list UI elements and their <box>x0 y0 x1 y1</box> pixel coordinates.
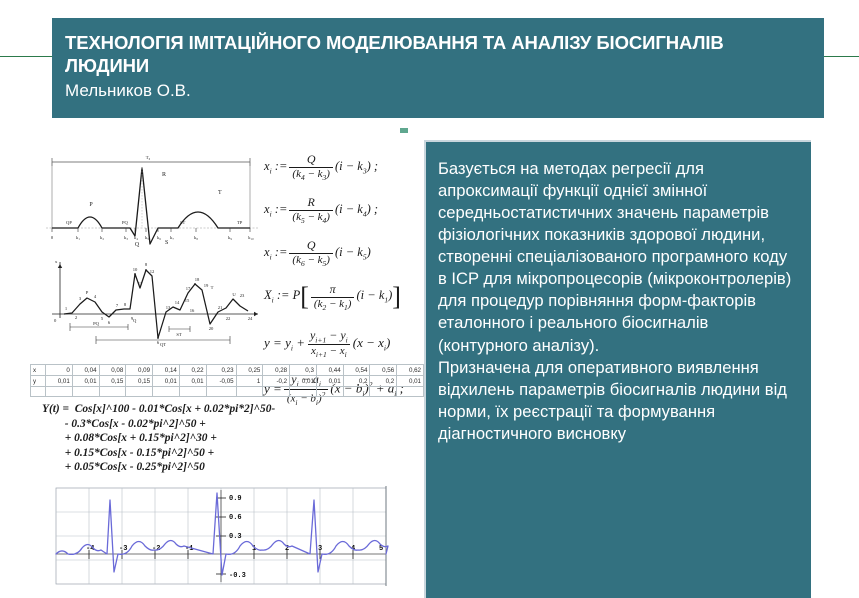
xtick-3: 3 <box>318 545 322 553</box>
cell: 0,15 <box>99 376 126 387</box>
cell <box>72 387 99 397</box>
cell: 0,15 <box>126 376 153 387</box>
svg-text:TP: TP <box>237 220 243 225</box>
cell: 0,56 <box>370 365 397 376</box>
svg-text:16: 16 <box>190 308 195 313</box>
sampled-ecg-chart: x 0 13 P4 25 67 89 108 1211 613 1415 161… <box>40 252 268 360</box>
svg-text:13: 13 <box>166 305 171 310</box>
cell <box>206 387 236 397</box>
cell: 0,44 <box>316 365 343 376</box>
row-label-y: y <box>31 376 46 387</box>
idealised-ecg-chart: T₀ P R Q S T QP PQ ST TP <box>38 148 266 256</box>
svg-text:8: 8 <box>124 302 127 307</box>
svg-text:T: T <box>218 190 222 196</box>
svg-text:x: x <box>55 259 58 264</box>
svg-text:S: S <box>165 240 168 246</box>
svg-text:19: 19 <box>204 283 209 288</box>
cell <box>263 387 290 397</box>
svg-text:k₈: k₈ <box>194 235 198 240</box>
svg-text:3: 3 <box>79 296 82 301</box>
svg-text:QT: QT <box>160 342 166 347</box>
cell: 0,25 <box>236 365 263 376</box>
svg-text:R: R <box>162 172 166 178</box>
svg-text:1: 1 <box>65 306 68 311</box>
description-paragraph-1: Базується на методах регресії для апрокс… <box>438 158 797 357</box>
cell: 0,14 <box>153 365 180 376</box>
cell: 0,01 <box>397 376 424 387</box>
svg-text:ST: ST <box>176 332 182 337</box>
equation-4: Xi := P [ π(k2 − k1) (i − k1) ] <box>264 282 434 312</box>
svg-text:0: 0 <box>51 235 54 240</box>
cell: 0,01 <box>72 376 99 387</box>
simulated-ecg-chart: 0.9 0.6 0.3 -0.3 -4 -3 -2 -1 1 2 <box>38 478 428 594</box>
decorative-mark <box>400 128 408 133</box>
table-row-x: x 0 0,04 0,08 0,09 0,14 0,22 0,23 0,25 0… <box>31 365 424 376</box>
svg-text:18: 18 <box>195 277 200 282</box>
svg-text:11: 11 <box>138 281 143 286</box>
cell: 0,28 <box>263 365 290 376</box>
page-title: ТЕХНОЛОГІЯ ІМІТАЦІЙНОГО МОДЕЛЮВАННЯ ТА А… <box>65 32 806 77</box>
svg-text:k₂: k₂ <box>100 235 104 240</box>
svg-text:k₁₀: k₁₀ <box>248 235 254 240</box>
svg-text:k₇: k₇ <box>170 235 174 240</box>
svg-text:4: 4 <box>94 294 97 299</box>
cell <box>236 387 263 397</box>
svg-text:24: 24 <box>248 316 253 321</box>
cell: 0,01 <box>290 376 317 387</box>
svg-text:PQ: PQ <box>93 321 100 326</box>
equation-5: y = yi + yi+1 − yixi+1 − xi (x − xi) <box>264 328 434 360</box>
equation-3: xi := Q(k6 − k5) (i − k5) <box>264 238 434 268</box>
table-row-blank <box>31 387 424 397</box>
table-row-y: y 0,01 0,01 0,15 0,15 0,01 0,01 -0,05 1 … <box>31 376 424 387</box>
y-formula-line-1: Y(t) = Cos[x]^100 - 0.01*Cos[x + 0.02*pi… <box>42 403 275 415</box>
svg-text:20: 20 <box>209 326 214 331</box>
y-formula-line-3: + 0.08*Cos[x + 0.15*pi^2]^30 + <box>42 432 217 444</box>
slide-canvas: ТЕХНОЛОГІЯ ІМІТАЦІЙНОГО МОДЕЛЮВАННЯ ТА А… <box>0 0 859 598</box>
equation-1: xi := Q(k4 − k3) (i − k3) ; <box>264 152 434 182</box>
cell <box>153 387 180 397</box>
cell: 0,2 <box>370 376 397 387</box>
svg-text:k₆: k₆ <box>157 235 161 240</box>
svg-text:k₁: k₁ <box>76 235 80 240</box>
cell: 0,54 <box>343 365 370 376</box>
cell: 0 <box>46 365 73 376</box>
cell: -0,05 <box>206 376 236 387</box>
svg-text:T: T <box>211 285 214 290</box>
ytick-neg-0-3: -0.3 <box>229 572 246 580</box>
svg-text:7: 7 <box>116 303 119 308</box>
ytick-0-6: 0.6 <box>229 514 242 522</box>
cell: 0,22 <box>179 365 206 376</box>
cell: 0,09 <box>126 365 153 376</box>
cell <box>179 387 206 397</box>
title-block: ТЕХНОЛОГІЯ ІМІТАЦІЙНОГО МОДЕЛЮВАННЯ ТА А… <box>52 18 824 118</box>
svg-text:U: U <box>232 292 236 297</box>
xtick-neg3: -3 <box>119 545 127 553</box>
cell: 0,01 <box>179 376 206 387</box>
svg-text:T₀: T₀ <box>146 155 151 160</box>
cell: 0,3 <box>290 365 317 376</box>
svg-text:k₃: k₃ <box>124 235 128 240</box>
cell: 0,2 <box>343 376 370 387</box>
sample-values-table: x 0 0,04 0,08 0,09 0,14 0,22 0,23 0,25 0… <box>30 364 424 397</box>
svg-text:21: 21 <box>218 305 223 310</box>
svg-text:PQ: PQ <box>122 220 129 225</box>
y-formula-line-4: + 0.15*Cos[x - 0.15*pi^2]^50 + <box>42 447 214 459</box>
svg-text:5: 5 <box>101 316 104 321</box>
cell: 0,01 <box>316 376 343 387</box>
svg-text:6: 6 <box>108 320 111 325</box>
svg-text:P: P <box>86 290 89 295</box>
description-panel: Базується на методах регресії для апрокс… <box>424 140 811 598</box>
cell <box>126 387 153 397</box>
svg-text:10: 10 <box>133 267 138 272</box>
cell <box>316 387 343 397</box>
cell <box>31 387 46 397</box>
cell <box>99 387 126 397</box>
author-name: Мельников О.В. <box>65 80 806 101</box>
svg-text:15: 15 <box>185 298 190 303</box>
svg-text:23: 23 <box>240 293 245 298</box>
ytick-0-9: 0.9 <box>229 495 242 503</box>
svg-text:2: 2 <box>75 315 78 320</box>
figures-column: T₀ P R Q S T QP PQ ST TP <box>28 140 428 598</box>
cell: 0,23 <box>206 365 236 376</box>
cell <box>290 387 317 397</box>
svg-text:k₅: k₅ <box>145 235 149 240</box>
table-body: x 0 0,04 0,08 0,09 0,14 0,22 0,23 0,25 0… <box>31 365 424 397</box>
svg-text:Q: Q <box>135 242 140 248</box>
cell <box>46 387 73 397</box>
cell: 0,62 <box>397 365 424 376</box>
cell: 0,01 <box>46 376 73 387</box>
svg-text:Q: Q <box>133 318 137 323</box>
y-formula-line-5: + 0.05*Cos[x - 0.25*pi^2]^50 <box>42 461 205 473</box>
svg-text:8: 8 <box>145 262 148 267</box>
svg-text:22: 22 <box>226 316 231 321</box>
svg-text:12: 12 <box>150 269 155 274</box>
y-formula-line-2: - 0.3*Cos[x - 0.02*pi^2]^50 + <box>42 418 206 430</box>
svg-text:P: P <box>89 202 93 208</box>
svg-text:QP: QP <box>66 220 72 225</box>
cell: 1 <box>236 376 263 387</box>
svg-text:0: 0 <box>54 318 57 323</box>
svg-text:ST: ST <box>180 220 186 225</box>
cell: 0,01 <box>153 376 180 387</box>
svg-text:k₉: k₉ <box>228 235 232 240</box>
cell: 0,08 <box>99 365 126 376</box>
row-label-x: x <box>31 365 46 376</box>
svg-text:17: 17 <box>186 286 191 291</box>
svg-text:14: 14 <box>175 300 180 305</box>
cell <box>343 387 370 397</box>
cell: -0,2 <box>263 376 290 387</box>
cell: 0,04 <box>72 365 99 376</box>
description-paragraph-2: Призначена для оперативного виявлення ві… <box>438 357 797 445</box>
cell <box>370 387 397 397</box>
ytick-0-3: 0.3 <box>229 533 242 541</box>
y-formula-block: Y(t) = Cos[x]^100 - 0.01*Cos[x + 0.02*pi… <box>42 402 422 475</box>
svg-text:k₄: k₄ <box>134 235 138 240</box>
cell <box>397 387 424 397</box>
equation-2: xi := R(k5 − k4) (i − k4) ; <box>264 195 434 225</box>
